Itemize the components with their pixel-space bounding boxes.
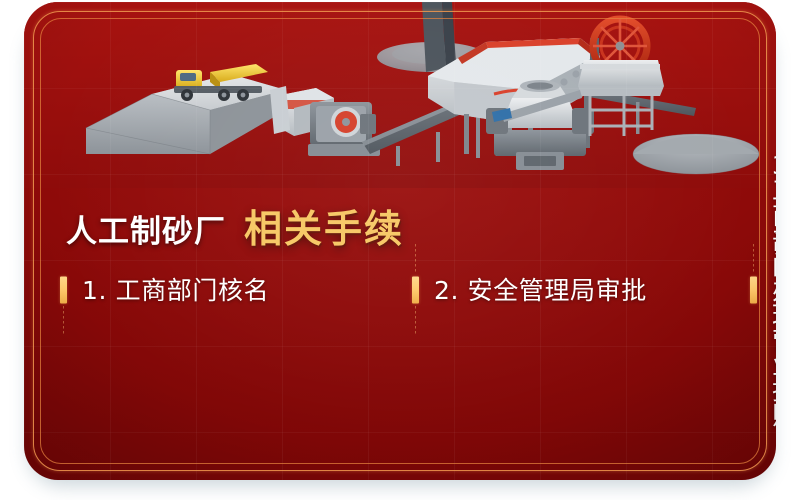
sand-stockpile [633, 134, 759, 174]
step-marker-bar [412, 277, 419, 304]
list-item-label: 2. 安全管理局审批 [434, 278, 647, 303]
step-connector-dots [753, 244, 754, 274]
step-connector-dots [415, 244, 416, 274]
list-item[interactable]: 3. 工商部门办理营业执照 [750, 260, 776, 320]
step-connector-dots [63, 306, 64, 336]
list-item[interactable]: 2. 安全管理局审批 [412, 260, 750, 320]
title-accent-text: 相关手续 [244, 198, 404, 253]
step-marker-bar [60, 277, 67, 304]
production-line-illustration [24, 2, 776, 188]
steps-list: 1. 工商部门核名 2. 安全管理局审批 3. 工商部门办理营业执照 4. 国土… [60, 260, 750, 320]
list-item[interactable]: 1. 工商部门核名 [60, 260, 412, 320]
poster-title: 人工制砂厂 相关手续 [66, 198, 404, 253]
red-plaque: 人工制砂厂 相关手续 1. 工商部门核名 2. 安全管理局审批 3. 工商部门办… [24, 2, 776, 480]
step-connector-dots [415, 306, 416, 336]
list-item-label: 1. 工商部门核名 [82, 278, 269, 303]
poster-stage: 人工制砂厂 相关手续 1. 工商部门核名 2. 安全管理局审批 3. 工商部门办… [0, 0, 800, 500]
step-marker-bar [750, 277, 757, 304]
feed-chute [422, 2, 456, 72]
title-main-text: 人工制砂厂 [66, 206, 226, 251]
list-item-label: 3. 工商部门办理营业执照 [772, 153, 776, 428]
